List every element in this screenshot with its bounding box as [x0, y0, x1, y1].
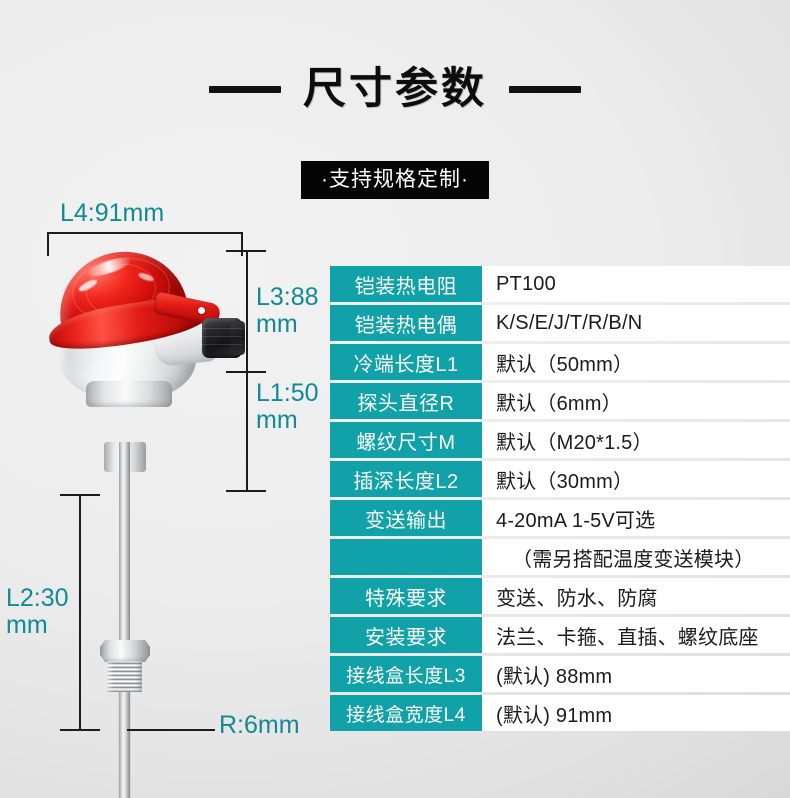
page-title: 尺寸参数	[0, 60, 790, 118]
dim-tick-l2-bottom	[60, 729, 100, 731]
spec-label: 接线盒宽度L4	[330, 695, 482, 731]
spec-value: 默认（30mm）	[482, 461, 790, 497]
spec-label: 插深长度L2	[330, 461, 482, 497]
spec-label: 铠装热电偶	[330, 305, 482, 341]
table-row: 螺纹尺寸M 默认（M20*1.5）	[330, 422, 790, 458]
table-row: 探头直径R 默认（6mm）	[330, 383, 790, 419]
spec-label: 接线盒长度L3	[330, 656, 482, 692]
spec-value: 默认（6mm）	[482, 383, 790, 419]
spec-value: 法兰、卡箍、直插、螺纹底座	[482, 617, 790, 653]
dim-line-l4	[47, 232, 243, 234]
cable-gland-ridge	[202, 344, 242, 345]
spec-value: 变送、防水、防腐	[482, 578, 790, 614]
dim-line-l3-l1	[246, 250, 248, 490]
dim-tick-l4-left	[47, 232, 49, 256]
table-row: 铠装热电阻 PT100	[330, 266, 790, 302]
spec-label: 探头直径R	[330, 383, 482, 419]
spec-value: 默认（M20*1.5）	[482, 422, 790, 458]
probe-rod-upper	[119, 442, 130, 642]
dim-label-l1: L1:50 mm	[256, 380, 319, 434]
spec-label: 特殊要求	[330, 578, 482, 614]
cable-gland-ridge	[202, 328, 242, 329]
title-rule-right	[509, 86, 581, 93]
spec-value: 4-20mA 1-5V可选	[482, 500, 790, 536]
housing-base	[86, 381, 172, 407]
spec-value: (默认) 91mm	[482, 695, 790, 731]
dim-tick-l3-bottom	[226, 371, 266, 373]
dim-line-l2	[79, 494, 81, 730]
dim-leader-r	[127, 729, 215, 731]
probe-rod	[119, 692, 130, 798]
dim-label-r: R:6mm	[219, 712, 300, 739]
table-row: 接线盒宽度L4 (默认) 91mm	[330, 695, 790, 731]
table-row: 铠装热电偶 K/S/E/J/T/R/B/N	[330, 305, 790, 341]
spec-label: 变送输出	[330, 500, 482, 536]
title-rule-left	[209, 86, 281, 93]
spec-value: （需另搭配温度变送模块）	[482, 539, 790, 575]
dim-tick-l4-right	[241, 232, 243, 256]
table-row: 冷端长度L1 默认（50mm）	[330, 344, 790, 380]
cable-gland-ridge	[202, 336, 242, 337]
table-row: 接线盒长度L3 (默认) 88mm	[330, 656, 790, 692]
custom-spec-badge: ·支持规格定制·	[301, 161, 489, 199]
dim-tick-l3-top	[226, 250, 266, 252]
title-text: 尺寸参数	[303, 68, 487, 111]
sensor-head-assembly	[42, 248, 242, 428]
dim-tick-l1-bottom	[226, 490, 266, 492]
spec-label-empty	[330, 539, 482, 575]
table-row: 特殊要求 变送、防水、防腐	[330, 578, 790, 614]
spec-label: 铠装热电阻	[330, 266, 482, 302]
product-figure: L4:91mm L3:88 mm L1:50 mm L2:30 mm R:6mm	[0, 200, 330, 770]
hex-nut	[100, 640, 150, 662]
spec-label: 螺纹尺寸M	[330, 422, 482, 458]
spec-table: 铠装热电阻 PT100 铠装热电偶 K/S/E/J/T/R/B/N 冷端长度L1…	[330, 266, 790, 734]
spec-value: PT100	[482, 266, 790, 302]
spec-label: 安装要求	[330, 617, 482, 653]
table-row: 插深长度L2 默认（30mm）	[330, 461, 790, 497]
spec-value: (默认) 88mm	[482, 656, 790, 692]
spec-value: K/S/E/J/T/R/B/N	[482, 305, 790, 341]
spec-label: 冷端长度L1	[330, 344, 482, 380]
spec-value: 默认（50mm）	[482, 344, 790, 380]
dim-label-l4: L4:91mm	[60, 200, 164, 227]
table-row: 安装要求 法兰、卡箍、直插、螺纹底座	[330, 617, 790, 653]
table-row: 变送输出 4-20mA 1-5V可选	[330, 500, 790, 536]
cable-gland-cap	[230, 321, 245, 355]
table-row-continuation: （需另搭配温度变送模块）	[330, 539, 790, 575]
threaded-fitting	[108, 661, 142, 692]
product-spec-page: 尺寸参数 ·支持规格定制·	[0, 0, 790, 798]
dim-label-l2: L2:30 mm	[6, 585, 69, 639]
dim-tick-l2-top	[60, 494, 100, 496]
dim-label-l3: L3:88 mm	[256, 284, 319, 338]
